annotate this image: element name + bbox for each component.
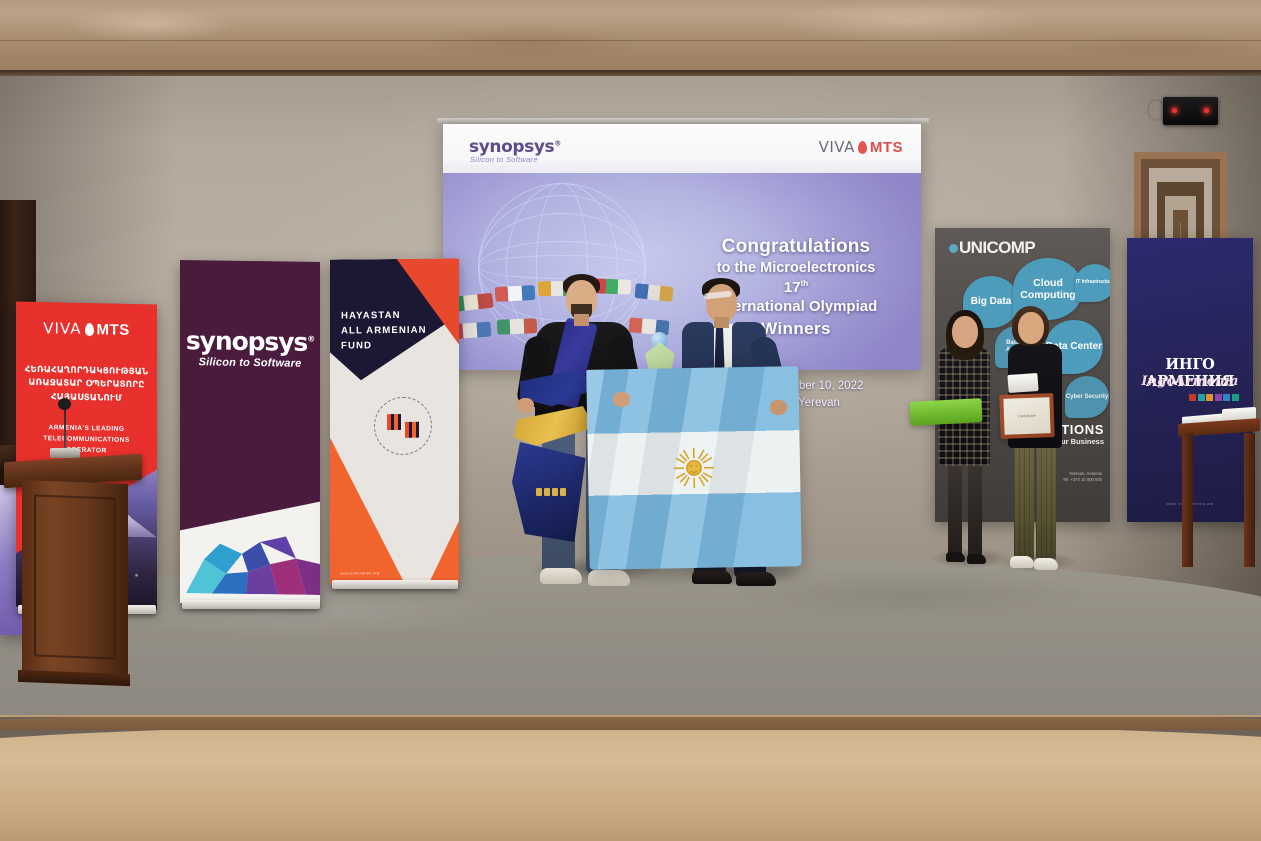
- ceremony-photo-scene: synopsys® Silicon to Software VIVA MTS: [0, 0, 1261, 841]
- woman1-head: [952, 316, 978, 348]
- stage-step-3: [0, 723, 1261, 841]
- woman1-shoe-right: [967, 554, 986, 564]
- man2-neck: [714, 317, 729, 328]
- beam-texture: [0, 0, 1261, 72]
- haf-seal-logo: [374, 397, 432, 456]
- microphone-icon: [58, 398, 71, 410]
- viva-banner-word1: VIVA: [43, 319, 81, 338]
- viva-banner-word2: MTS: [97, 321, 130, 339]
- woman1-legs: [946, 462, 984, 560]
- unicomp-contact-text: Yerevan, Armenia Tel: +374 10 000 000: [1063, 471, 1102, 484]
- unicomp-dot-icon: [949, 244, 958, 253]
- wooden-podium: [8, 458, 138, 680]
- synopsys-banner-logo: synopsys®: [180, 326, 320, 357]
- viva-banner-armenian-text: ՀԵՌԱՀԱՂՈՐԴԱԿՑՈՒԹՅԱՆ ԱՌԱՋԱՏԱՐ ՕՊԵՐԱՏՈՐԸ Հ…: [22, 364, 151, 407]
- haf-flag-bars-icon: [387, 414, 420, 438]
- slide-mts-word: MTS: [870, 139, 903, 156]
- wall-mounted-led-device-icon: [1163, 97, 1218, 125]
- slide-title-line1: Congratulations: [687, 235, 905, 258]
- ingo-color-squares: [1189, 394, 1239, 401]
- man2-shoe-left: [692, 570, 732, 584]
- synopsys-banner-base: [182, 600, 320, 609]
- table-leg-left: [1182, 433, 1193, 567]
- woman2-head: [1018, 312, 1044, 344]
- slide-title-line2: to the Microelectronics: [687, 260, 905, 278]
- man1-shoe-left: [540, 568, 582, 584]
- woman2-shoe-left: [1010, 556, 1034, 568]
- microphone-base: [50, 448, 80, 458]
- woman2-legs: [1012, 444, 1058, 562]
- banner-hayastan-fund: HAYASTAN ALL ARMENIAN FUND www.himnadram…: [330, 258, 459, 584]
- unicomp-bubble-cyber-security: Cyber Security: [1065, 376, 1109, 418]
- man1-hand-right: [613, 392, 630, 407]
- ingo-latin-name: IngoArmenia: [1127, 374, 1253, 389]
- haf-banner-url: www.himnadram.org: [340, 571, 380, 575]
- slide-viva-mts-logo: VIVA MTS: [819, 138, 903, 156]
- green-gift-box: [909, 398, 982, 426]
- haf-banner-title: HAYASTAN ALL ARMENIAN FUND: [341, 309, 427, 354]
- white-book: [1007, 373, 1038, 393]
- slide-synopsys-tagline: Silicon to Software: [470, 155, 538, 164]
- man1-neck: [574, 314, 589, 326]
- flag-ribbon-7: [497, 318, 537, 334]
- slide-viva-word: VIVA: [819, 138, 855, 156]
- wooden-side-table: [1178, 421, 1260, 569]
- viva-droplet-icon: [858, 141, 867, 154]
- synopsys-polygon-graphic: [186, 529, 320, 595]
- unicomp-bubble-it-infrastructure: IT Infrastructure: [1075, 264, 1110, 302]
- podium-body: [22, 480, 128, 680]
- unicomp-banner-logo: UNICOMP: [949, 238, 1035, 258]
- banner-synopsys: synopsys® Silicon to Software: [180, 260, 320, 605]
- woman1-shoe-left: [946, 552, 965, 562]
- slide-header-band: synopsys® Silicon to Software VIVA MTS: [443, 124, 921, 173]
- flag-ribbon-2: [495, 285, 536, 302]
- viva-droplet-icon: [85, 322, 94, 335]
- man2-hand-right: [770, 400, 787, 415]
- sun-of-may-icon: [672, 446, 717, 491]
- synopsys-banner-tagline: Silicon to Software: [180, 356, 320, 370]
- podium-front-panel: [34, 494, 116, 659]
- man1-hand-left: [517, 398, 534, 413]
- ceiling-beam: [0, 0, 1261, 72]
- table-leg-right: [1244, 433, 1255, 567]
- woman2-shoe-right: [1034, 558, 1058, 570]
- haf-banner-base: [332, 580, 458, 589]
- man1-shoe-right: [588, 570, 630, 586]
- man2-shoe-right: [736, 572, 776, 586]
- slide-synopsys-logo: synopsys®: [469, 137, 561, 157]
- framed-certificate: Certificate: [999, 393, 1055, 439]
- viva-banner-logo: VIVA MTS: [16, 319, 157, 340]
- viva-banner-english-text: ARMENIA'S LEADING TELECOMMUNICATIONS OPE…: [28, 422, 145, 458]
